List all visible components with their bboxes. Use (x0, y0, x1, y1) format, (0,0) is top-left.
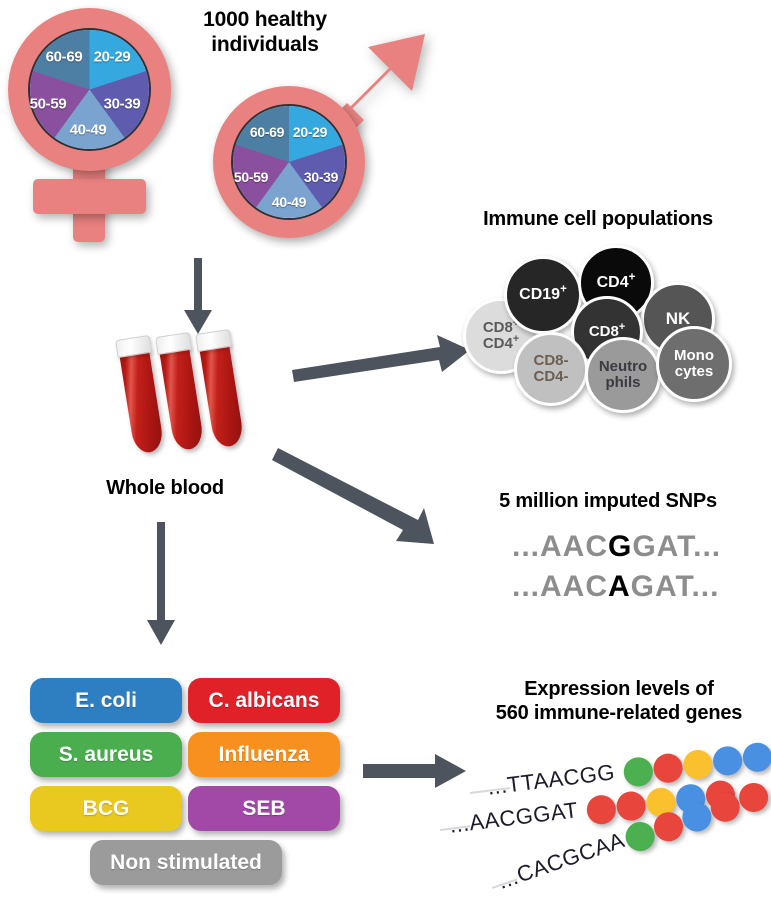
stimulus-s-aureus-label: S. aureus (59, 743, 154, 767)
stimulus-seb-label: SEB (242, 797, 285, 821)
male-pie-label-30-39: 30-39 (304, 169, 338, 185)
male-pie-label-60-69: 60-69 (250, 124, 284, 140)
stimulus-s-aureus[interactable]: S. aureus (30, 732, 182, 777)
male-pie-label-40-49: 40-49 (272, 194, 306, 210)
immune-cell-cd8n-cd4n: CD8-CD4- (514, 332, 588, 406)
gene-strand-2-bead-1 (585, 794, 617, 826)
female-pie-label-60-69: 60-69 (46, 49, 83, 66)
female-pie-label-50-59: 50-59 (30, 96, 67, 113)
female-pie-label-20-29: 20-29 (94, 49, 131, 66)
snp-allele-1: ...AACGGAT... (512, 530, 721, 564)
male-pie-label-20-29: 20-29 (293, 124, 327, 140)
immune-cell-cd8p-cd4p-label: CD8+CD4+ (483, 320, 519, 352)
gene-strand-1-bead-3 (682, 748, 714, 780)
female-pie-label-30-39: 30-39 (104, 96, 141, 113)
immune-cell-cd19p: CD19+ (504, 256, 582, 334)
expression-heading-line1: Expression levels of (470, 678, 768, 702)
stimulus-c-albicans[interactable]: C. albicans (188, 678, 340, 723)
stimulus-c-albicans-label: C. albicans (209, 689, 320, 713)
gene-expression-strands: ...TTAACGG ...AACGGAT ...CACGCAA (440, 735, 771, 905)
immune-cell-cd4p-label: CD4+ (597, 275, 636, 292)
stimuli-panel: E. coli C. albicans S. aureus Influenza … (30, 678, 340, 893)
arrow-cohort-to-blood (178, 258, 218, 336)
gene-strand-3-bead-5 (735, 779, 771, 816)
immune-cell-neutrophils-label: Neutrophils (599, 359, 647, 391)
immune-cell-monocytes: Monocytes (656, 326, 732, 402)
blood-tube-1-body (119, 349, 165, 454)
figure-canvas: 20-29 30-39 40-49 50-59 60-69 1000 healt… (0, 0, 771, 922)
stimulus-e-coli-label: E. coli (75, 689, 137, 713)
female-symbol-crossbar (33, 179, 146, 214)
arrow-blood-to-stimuli (142, 522, 182, 647)
expression-heading: Expression levels of 560 immune-related … (470, 678, 768, 725)
snp-allele-1-suffix: GAT... (632, 530, 721, 563)
immune-cell-neutrophils: Neutrophils (585, 337, 661, 413)
stimulus-bcg[interactable]: BCG (30, 786, 182, 831)
stimulus-non-stimulated-label: Non stimulated (110, 851, 262, 875)
stimulus-influenza[interactable]: Influenza (188, 732, 340, 777)
blood-tube-3-body (199, 343, 245, 448)
stimulus-seb[interactable]: SEB (188, 786, 340, 831)
whole-blood-tubes (105, 330, 235, 470)
gene-strand-1-bead-2 (652, 752, 684, 784)
snp-allele-2-prefix: ...AAC (512, 570, 608, 603)
snp-allele-2-variant: A (608, 570, 631, 603)
gene-strand-1-bead-1 (622, 756, 654, 788)
arrow-blood-to-immune (292, 330, 472, 375)
stimulus-influenza-label: Influenza (218, 743, 309, 767)
immune-cell-cd19p-label: CD19+ (519, 287, 567, 304)
immune-cell-cd8n-cd4n-label: CD8-CD4- (533, 353, 568, 385)
snp-allele-2: ...AACAGAT... (512, 570, 719, 604)
stimulus-bcg-label: BCG (83, 797, 130, 821)
gene-strand-1-bead-5 (741, 741, 771, 773)
gene-strand-2-sequence: ...AACGGAT (448, 797, 579, 839)
male-pie-label-50-59: 50-59 (234, 169, 268, 185)
stimulus-e-coli[interactable]: E. coli (30, 678, 182, 723)
whole-blood-label: Whole blood (80, 477, 250, 501)
male-cohort-symbol: 20-29 30-39 40-49 50-59 60-69 (205, 78, 435, 258)
female-pie-label-40-49: 40-49 (70, 122, 107, 139)
gene-strand-1-bead-4 (711, 745, 743, 777)
immune-cell-monocytes-label: Monocytes (674, 348, 714, 380)
immune-cell-nk-label: NK (666, 310, 691, 328)
expression-heading-line2: 560 immune-related genes (470, 702, 768, 726)
immune-heading: Immune cell populations (448, 208, 748, 232)
snps-heading: 5 million imputed SNPs (468, 490, 748, 514)
immune-cell-cluster: CD8+CD4+ CD19+ CD4+ NK CD8+ (460, 240, 760, 415)
blood-tube-2-body (159, 346, 205, 451)
snp-allele-2-suffix: GAT... (631, 570, 720, 603)
snp-allele-1-variant: G (608, 530, 632, 563)
stimulus-non-stimulated[interactable]: Non stimulated (90, 840, 282, 885)
gene-strand-3-sequence: ...CACGCAA (495, 827, 628, 895)
snp-allele-1-prefix: ...AAC (512, 530, 608, 563)
arrow-blood-to-snps (276, 448, 456, 548)
